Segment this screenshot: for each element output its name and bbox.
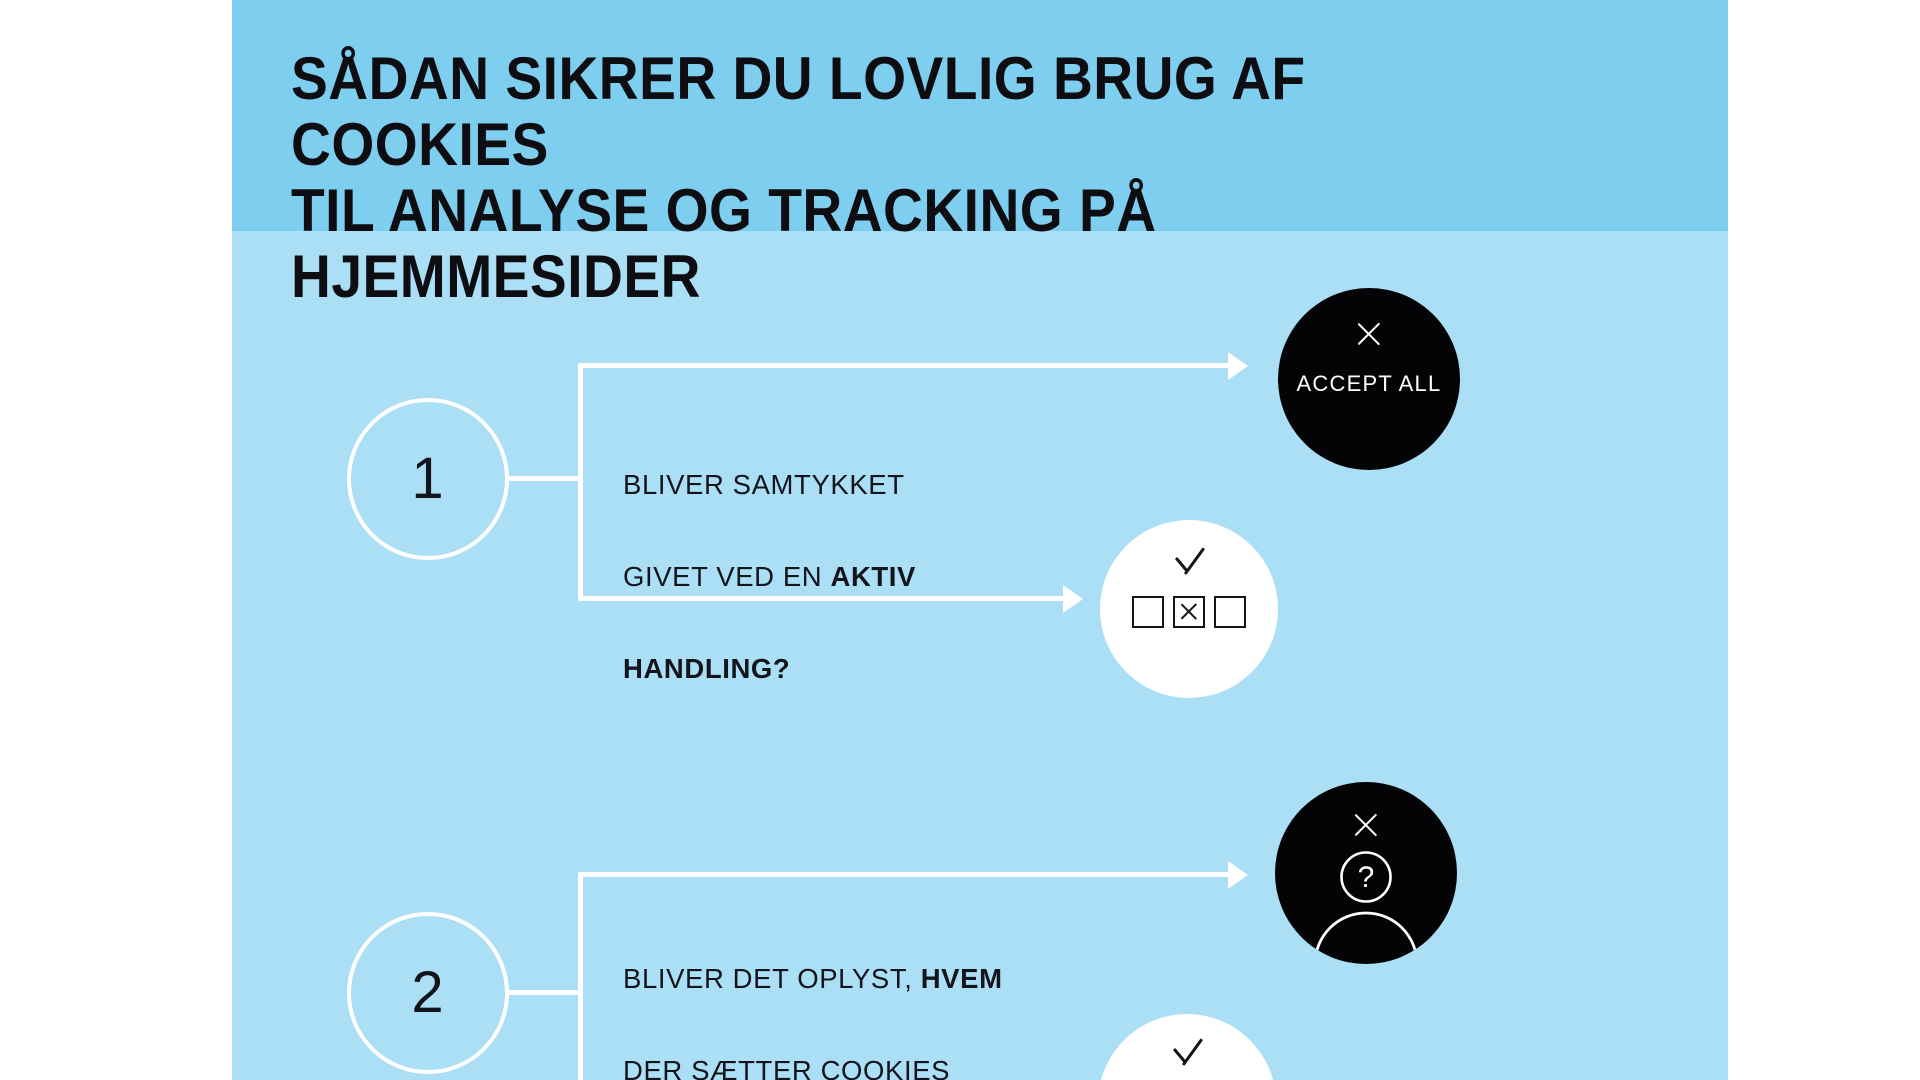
connector-stub-1 bbox=[509, 476, 581, 481]
known-user-icon bbox=[1098, 1014, 1276, 1080]
option-checkboxes-circle[interactable] bbox=[1100, 520, 1278, 698]
connector-stub-2 bbox=[509, 990, 581, 995]
connector-branch-2-top bbox=[578, 872, 1230, 877]
step-number-circle-1: 1 bbox=[347, 398, 509, 560]
anonymous-user-icon: ? bbox=[1275, 782, 1457, 964]
connector-trunk-2 bbox=[578, 872, 583, 1080]
step-1-line-1: BLIVER SAMTYKKET bbox=[623, 469, 905, 500]
step-1-line-2-normal: GIVET VED EN bbox=[623, 561, 830, 592]
arrow-head-1-bottom bbox=[1063, 585, 1083, 613]
checkbox-marked-center[interactable] bbox=[1173, 596, 1205, 628]
step-2-line-2: DER SÆTTER COOKIES bbox=[623, 1055, 950, 1080]
accept-all-label: ACCEPT ALL bbox=[1278, 371, 1460, 397]
step-1-line-3-bold: HANDLING? bbox=[623, 653, 790, 684]
option-accept-all-circle[interactable]: ACCEPT ALL bbox=[1278, 288, 1460, 470]
checkbox-row bbox=[1132, 596, 1246, 628]
connector-branch-1-top bbox=[578, 363, 1230, 368]
step-question-1: BLIVER SAMTYKKET GIVET VED EN AKTIV HAND… bbox=[623, 416, 1043, 692]
step-question-2: BLIVER DET OPLYST, HVEM DER SÆTTER COOKI… bbox=[623, 910, 1083, 1080]
page-title: SÅDAN SIKRER DU LOVLIG BRUG AF COOKIES T… bbox=[291, 46, 1579, 310]
checkmark-icon bbox=[1174, 545, 1204, 577]
step-2-line-1-bold: HVEM bbox=[921, 963, 1003, 994]
close-x-icon bbox=[1354, 319, 1384, 349]
checkbox-empty-left[interactable] bbox=[1132, 596, 1164, 628]
arrow-head-1-top bbox=[1228, 352, 1248, 380]
svg-text:?: ? bbox=[1358, 861, 1375, 894]
step-number-label-2: 2 bbox=[411, 964, 444, 1022]
step-2-line-1-normal: BLIVER DET OPLYST, bbox=[623, 963, 921, 994]
option-known-user-circle[interactable] bbox=[1098, 1014, 1276, 1080]
connector-trunk-1 bbox=[578, 363, 583, 601]
infographic-canvas: SÅDAN SIKRER DU LOVLIG BRUG AF COOKIES T… bbox=[0, 0, 1920, 1080]
step-1-line-2-bold: AKTIV bbox=[830, 561, 916, 592]
option-anonymous-user-circle[interactable]: ? bbox=[1275, 782, 1457, 964]
arrow-head-2-top bbox=[1228, 861, 1248, 889]
checkbox-empty-right[interactable] bbox=[1214, 596, 1246, 628]
step-number-label-1: 1 bbox=[411, 450, 444, 508]
step-number-circle-2: 2 bbox=[347, 912, 509, 1074]
